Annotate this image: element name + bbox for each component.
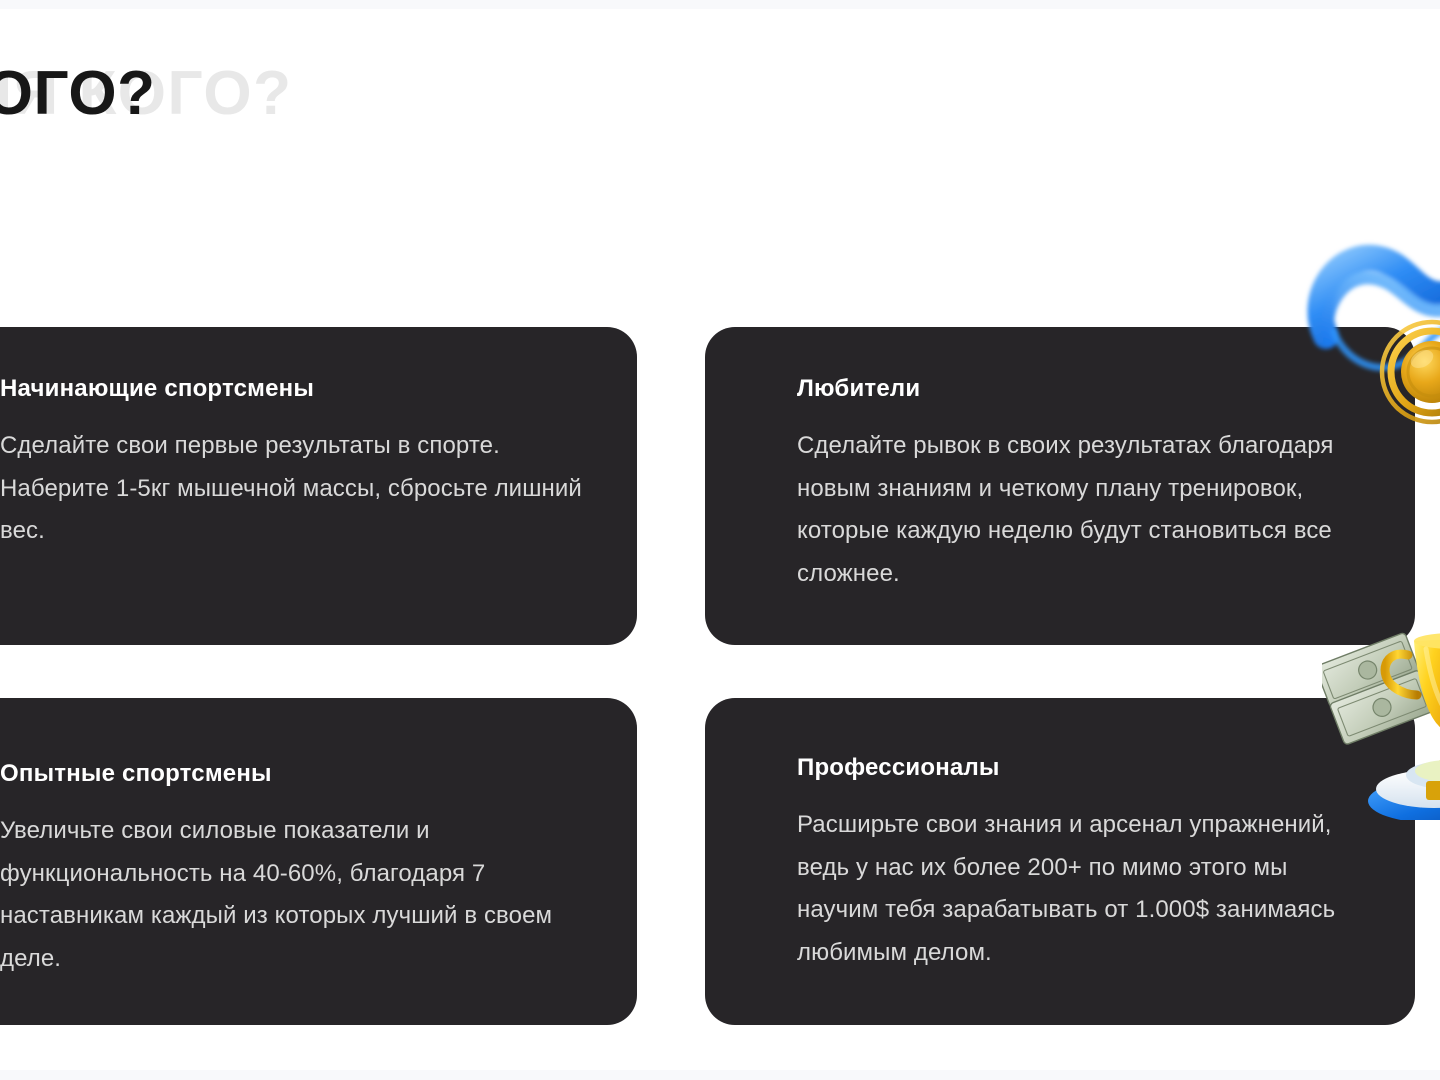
card-title: Начинающие спортсмены (0, 375, 585, 403)
card-body: Расширьте свои знания и арсенал упражнен… (797, 804, 1363, 975)
audience-cards-grid: Начинающие спортсмены Сделайте свои перв… (0, 327, 1440, 1025)
card-professionals[interactable]: Профессионалы Расширьте свои знания и ар… (705, 698, 1415, 1025)
card-body: Сделайте свои первые результаты в спорте… (0, 425, 585, 553)
page-bottom-band (0, 1070, 1440, 1080)
page-top-band (0, 0, 1440, 9)
card-title: Профессионалы (797, 754, 1363, 782)
card-body: Сделайте рывок в своих результатах благо… (797, 425, 1363, 596)
card-body: Увеличьте свои силовые показатели и функ… (0, 810, 585, 981)
page-title: ДЛЯ КОГО? (0, 48, 155, 140)
card-experienced[interactable]: Опытные спортсмены Увеличьте свои силовы… (0, 698, 637, 1025)
card-title: Опытные спортсмены (0, 760, 585, 788)
card-amateurs[interactable]: Любители Сделайте рывок в своих результа… (705, 327, 1415, 645)
card-beginners[interactable]: Начинающие спортсмены Сделайте свои перв… (0, 327, 637, 645)
card-title: Любители (797, 375, 1363, 403)
